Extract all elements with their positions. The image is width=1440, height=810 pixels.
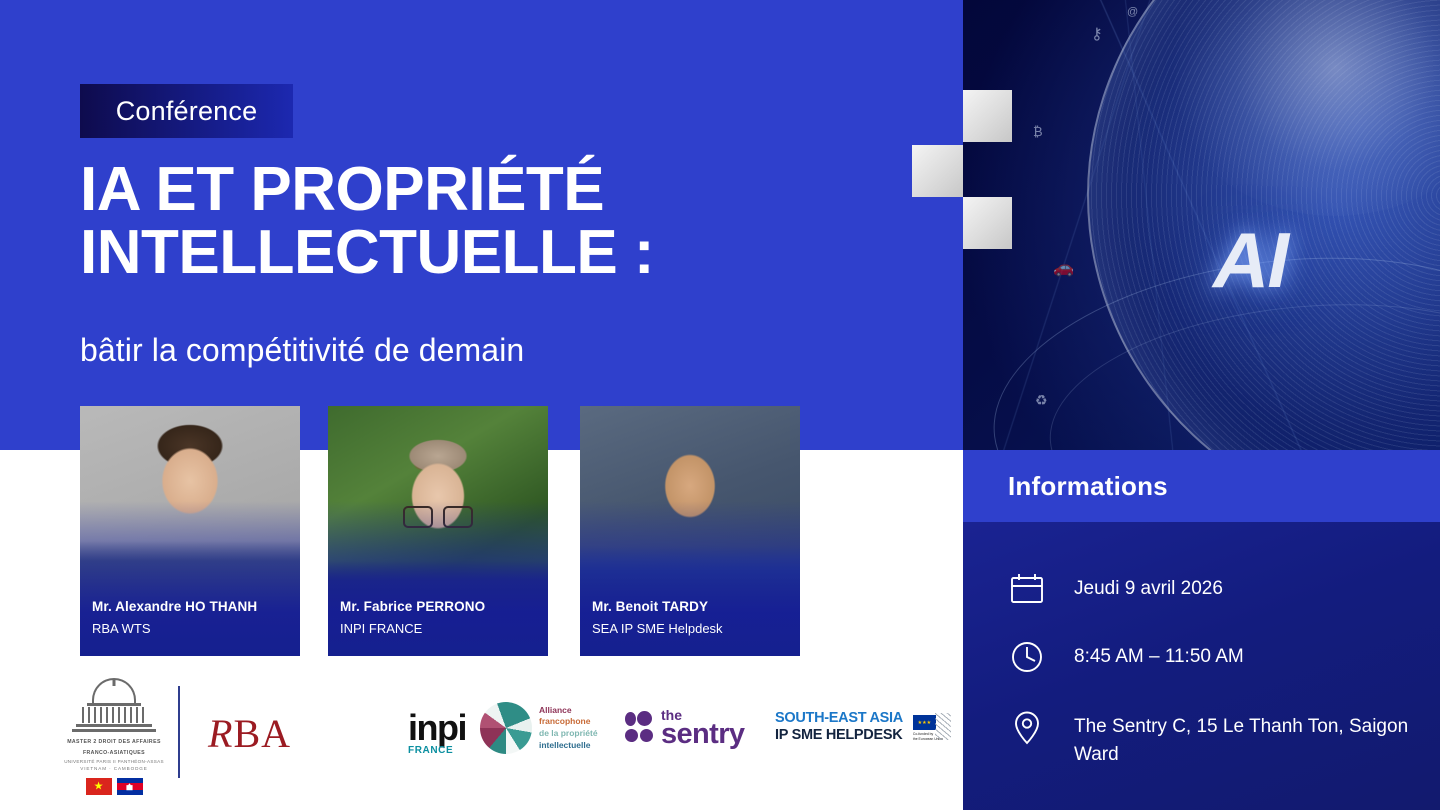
eu-flag-icon: ★★★ Co-funded bythe European Union — [911, 713, 951, 740]
info-location-value: The Sentry C, 15 Le Thanh Ton, Saigon Wa… — [1074, 708, 1440, 768]
conference-badge-label: Conférence — [116, 96, 258, 127]
page-title: IA ET PROPRIÉTÉ INTELLECTUELLE : — [80, 158, 860, 284]
speaker-name: Mr. Alexandre HO THANH — [92, 599, 292, 614]
sentry-name: sentry — [661, 722, 744, 747]
info-date-value: Jeudi 9 avril 2026 — [1074, 570, 1223, 603]
speaker-list: Mr. Alexandre HO THANH RBA WTS Mr. Fabri… — [80, 406, 870, 656]
title-line-1: IA ET PROPRIÉTÉ — [80, 158, 860, 221]
logo-the-sentry: the sentry — [625, 708, 744, 747]
at-icon: @ — [1127, 6, 1138, 18]
speaker-organization: RBA WTS — [92, 621, 292, 636]
speaker-organization: SEA IP SME Helpdesk — [592, 621, 792, 636]
assas-line-3: UNIVERSITÉ PARIS II PANTHÉON-ASSAS — [60, 758, 168, 765]
speaker-organization: INPI FRANCE — [340, 621, 540, 636]
pantheon-dome-icon — [71, 678, 157, 736]
decorative-square-1 — [963, 90, 1012, 142]
inpi-wordmark: inpi — [408, 712, 466, 744]
sea-line-1: SOUTH-EAST ASIA — [775, 710, 903, 727]
title-line-2: INTELLECTUELLE : — [80, 221, 860, 284]
speaker-card: Mr. Fabrice PERRONO INPI FRANCE — [328, 406, 548, 656]
car-icon: 🚗 — [1053, 258, 1074, 278]
conference-poster: Conférence IA ET PROPRIÉTÉ INTELLECTUELL… — [0, 0, 1440, 810]
info-time-value: 8:45 AM – 11:50 AM — [1074, 638, 1244, 671]
logo-alliance-francophone: Alliance francophone de la propriété int… — [480, 702, 598, 754]
alliance-line-2: francophone — [539, 716, 598, 728]
rba-initial: R — [208, 711, 233, 756]
logo-rba: RBA — [208, 710, 291, 757]
info-row-time: 8:45 AM – 11:50 AM — [1008, 638, 1244, 676]
informations-header: Informations — [963, 450, 1440, 522]
logo-inpi: inpi FRANCE — [408, 712, 466, 756]
speaker-card: Mr. Alexandre HO THANH RBA WTS — [80, 406, 300, 656]
calendar-icon — [1008, 570, 1046, 608]
key-icon: ⚷ — [1091, 24, 1103, 44]
partner-logos: MASTER 2 DROIT DES AFFAIRES FRANCO-ASIAT… — [60, 672, 960, 802]
info-row-location: The Sentry C, 15 Le Thanh Ton, Saigon Wa… — [1008, 708, 1440, 768]
logo-divider — [178, 686, 180, 778]
assas-line-1: MASTER 2 DROIT DES AFFAIRES — [60, 739, 168, 747]
speaker-card: Mr. Benoit TARDY SEA IP SME Helpdesk — [580, 406, 800, 656]
country-flags — [60, 778, 168, 795]
bitcoin-icon: ₿ — [1033, 124, 1043, 139]
informations-panel: Jeudi 9 avril 2026 8:45 AM – 11:50 AM Th… — [963, 522, 1440, 810]
alliance-line-3: de la propriété — [539, 728, 598, 740]
alliance-line-1: Alliance — [539, 705, 598, 717]
decorative-square-2 — [912, 145, 963, 197]
cambodia-flag-icon — [117, 778, 143, 795]
decorative-square-3 — [963, 197, 1012, 249]
clock-icon — [1008, 638, 1046, 676]
location-pin-icon — [1008, 708, 1046, 746]
page-subtitle: bâtir la compétitivité de demain — [80, 332, 860, 369]
logo-paris2-assas: MASTER 2 DROIT DES AFFAIRES FRANCO-ASIAT… — [60, 678, 168, 795]
sea-line-2: IP SME HELPDESK — [775, 727, 903, 744]
speaker-name: Mr. Benoit TARDY — [592, 599, 792, 614]
sentry-dots-icon — [625, 710, 655, 744]
assas-line-2: FRANCO-ASIATIQUES — [60, 750, 168, 758]
alliance-wordmark: Alliance francophone de la propriété int… — [539, 705, 598, 752]
speaker-name: Mr. Fabrice PERRONO — [340, 599, 540, 614]
alliance-globe-icon — [480, 702, 532, 754]
ai-label: AI — [1213, 215, 1287, 306]
vietnam-flag-icon — [86, 778, 112, 795]
recycle-icon: ♻ — [1035, 392, 1048, 409]
conference-badge: Conférence — [80, 84, 293, 138]
informations-title: Informations — [1008, 471, 1168, 502]
rba-rest: BA — [233, 711, 291, 756]
ai-globe-graphic: ⚷ @ ₿ 🚗 ♻ AI — [963, 0, 1440, 450]
info-row-date: Jeudi 9 avril 2026 — [1008, 570, 1223, 608]
alliance-line-4: intellectuelle — [539, 740, 598, 752]
assas-line-4: VIETNAM · CAMBODGE — [60, 765, 168, 772]
logo-sea-ip-sme-helpdesk: SOUTH-EAST ASIA IP SME HELPDESK ★★★ Co-f… — [775, 710, 951, 744]
